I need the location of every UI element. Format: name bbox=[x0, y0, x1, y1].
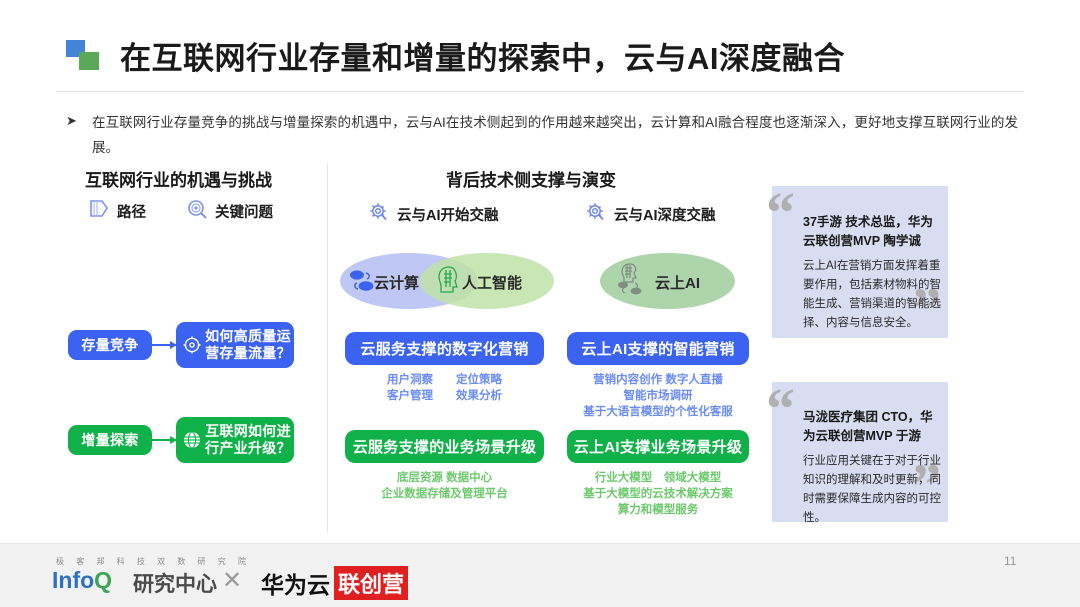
ai-head-cloud-icon bbox=[616, 262, 650, 301]
legend-label-key-question: 关键问题 bbox=[215, 201, 273, 222]
quote-body-2: 行业应用关键在于对于行业知识的理解和及时更新，同时需要保障生成内容的可控性。 bbox=[803, 452, 943, 528]
left-column-heading: 互联网行业的机遇与挑战 bbox=[85, 166, 272, 191]
slide-canvas: 在互联网行业存量和增量的探索中，云与AI深度融合 ➤ 在互联网行业存量竞争的挑战… bbox=[0, 0, 1080, 607]
huawei-cloud-label: 华为云 bbox=[261, 566, 330, 600]
column-divider bbox=[327, 163, 328, 533]
page-number: 11 bbox=[1004, 554, 1016, 568]
slide-header: 在互联网行业存量和增量的探索中，云与AI深度融合 bbox=[0, 0, 1080, 92]
ellipse-label-ai: 人工智能 bbox=[462, 272, 522, 293]
legend-label-path: 路径 bbox=[117, 201, 146, 222]
tech-box-title-4: 云上AI支撑业务场景升级 bbox=[567, 430, 749, 463]
globe-icon bbox=[182, 430, 202, 450]
tech-box-items-1: 用户洞察 定位策略 客户管理 效果分析 bbox=[345, 372, 544, 404]
tech-box-title-3: 云服务支撑的业务场景升级 bbox=[345, 430, 544, 463]
quote-open-mark-icon-1: “ bbox=[766, 184, 795, 242]
legend-item-key-question: 关键问题 bbox=[186, 199, 273, 223]
footer-divider bbox=[0, 543, 1080, 544]
legend-item-path: 路径 bbox=[88, 199, 146, 223]
flow-question-existing: 如何高质量运营存量流量？ bbox=[176, 322, 294, 368]
gear-search-icon bbox=[585, 202, 607, 227]
intro-text: 在互联网行业存量竞争的挑战与增量探索的机遇中，云与AI在技术侧起到的作用越来越突… bbox=[92, 110, 1018, 160]
cross-icon: ✕ bbox=[222, 566, 242, 595]
two-squares-logo-icon bbox=[66, 40, 100, 70]
infoq-logo-info: Info bbox=[52, 567, 94, 593]
tech-box-items-3: 底层资源 数据中心 企业数据存储及管理平台 bbox=[345, 470, 544, 502]
tech-box-title-2: 云上AI支撑的智能营销 bbox=[567, 332, 749, 365]
flow-arrow-green-icon bbox=[152, 439, 176, 441]
flow-source-incremental-exploration: 增量探索 bbox=[68, 425, 152, 455]
infoq-logo-q: Q bbox=[94, 567, 112, 593]
page-title: 在互联网行业存量和增量的探索中，云与AI深度融合 bbox=[120, 33, 845, 78]
magnifier-target-icon bbox=[186, 199, 208, 223]
flow-question-text-1: 如何高质量运营存量流量？ bbox=[202, 328, 294, 362]
ellipse-label-cloud: 云计算 bbox=[374, 272, 419, 293]
chevron-right-bullet-icon: ➤ bbox=[66, 113, 77, 129]
union-camp-badge: 联创营 bbox=[334, 566, 408, 600]
path-flag-icon bbox=[88, 199, 110, 223]
flow-question-text-2: 互联网如何进行产业升级？ bbox=[202, 423, 294, 457]
stage-label-deep-fusion: 云与AI深度交融 bbox=[585, 202, 716, 227]
crosshair-icon bbox=[182, 335, 202, 355]
tech-box-items-4: 行业大模型 领域大模型 基于大模型的云技术解决方案 算力和模型服务 bbox=[560, 470, 756, 518]
flow-source-existing-competition: 存量竞争 bbox=[68, 330, 152, 360]
ai-head-icon bbox=[436, 265, 462, 300]
logo-square-green bbox=[79, 52, 99, 70]
header-divider bbox=[56, 91, 1024, 92]
stage-label-text-1: 云与AI开始交融 bbox=[397, 204, 499, 225]
infoq-logo: InfoQ bbox=[52, 567, 112, 594]
stage-label-text-2: 云与AI深度交融 bbox=[614, 204, 716, 225]
quote-body-1: 云上AI在营销方面发挥着重要作用，包括素材物料的智能生成、营销渠道的智能选择、内… bbox=[803, 257, 943, 333]
tech-box-title-1: 云服务支撑的数字化营销 bbox=[345, 332, 544, 365]
quote-open-mark-icon-2: “ bbox=[766, 380, 795, 438]
quote-author-2: 马泷医疗集团 CTO，华为云联创营MVP 于游 bbox=[803, 408, 943, 446]
tech-box-items-2: 营销内容创作 数字人直播 智能市场调研 基于大语言模型的个性化客服 bbox=[560, 372, 756, 420]
right-column-heading: 背后技术侧支撑与演变 bbox=[446, 166, 616, 191]
flow-arrow-blue-icon bbox=[152, 344, 176, 346]
ellipse-label-cloud-ai: 云上AI bbox=[655, 272, 700, 293]
infoq-research-center: 研究中心 bbox=[133, 568, 217, 598]
gear-search-icon bbox=[368, 202, 390, 227]
quote-author-1: 37手游 技术总监，华为云联创营MVP 陶学诚 bbox=[803, 213, 943, 251]
stage-label-initial-fusion: 云与AI开始交融 bbox=[368, 202, 499, 227]
flow-question-incremental: 互联网如何进行产业升级？ bbox=[176, 417, 294, 463]
